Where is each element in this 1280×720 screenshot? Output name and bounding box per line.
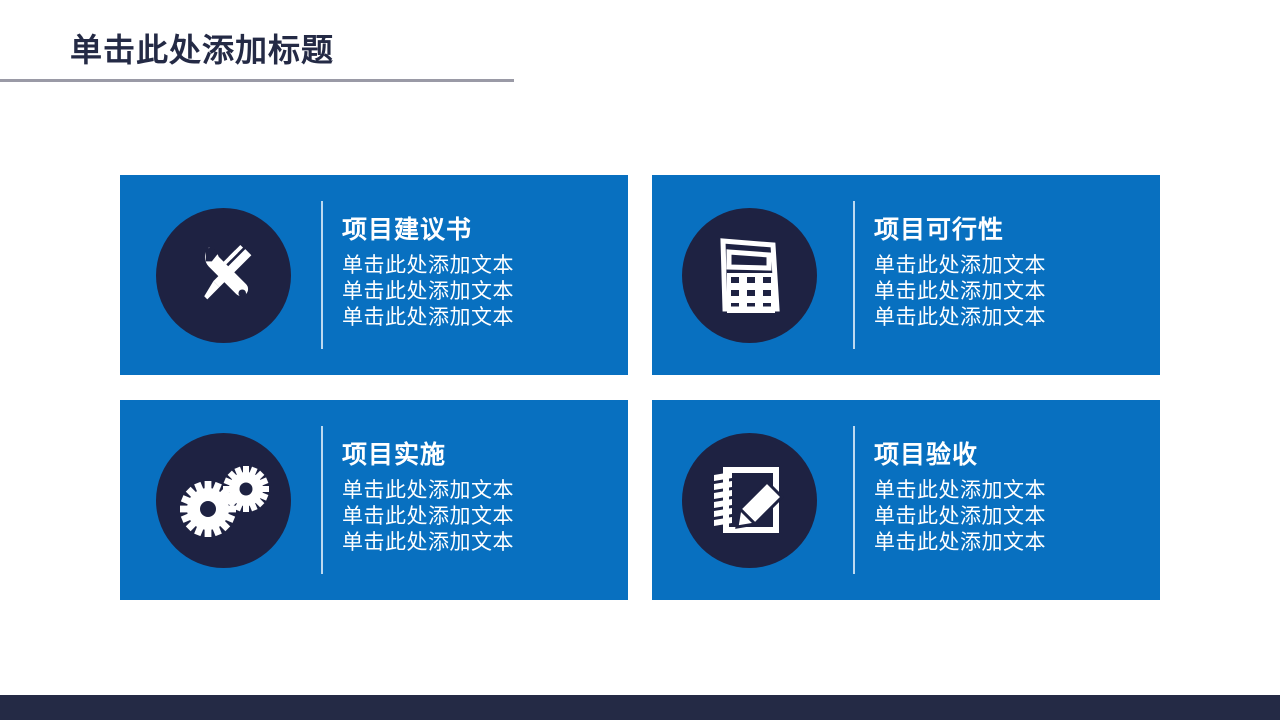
page-title[interactable]: 单击此处添加标题 — [70, 30, 514, 70]
card-heading[interactable]: 项目验收 — [874, 440, 1160, 470]
card-body: 项目实施 单击此处添加文本 单击此处添加文本 单击此处添加文本 — [323, 440, 628, 560]
card-project-acceptance[interactable]: 项目验收 单击此处添加文本 单击此处添加文本 单击此处添加文本 — [652, 400, 1160, 600]
card-line[interactable]: 单击此处添加文本 — [342, 279, 628, 305]
card-lines: 单击此处添加文本 单击此处添加文本 单击此处添加文本 — [874, 253, 1160, 331]
card-line[interactable]: 单击此处添加文本 — [342, 530, 628, 556]
wrench-screwdriver-icon — [186, 237, 262, 313]
card-line[interactable]: 单击此处添加文本 — [342, 478, 628, 504]
calculator-icon — [717, 236, 783, 314]
card-line[interactable]: 单击此处添加文本 — [342, 253, 628, 279]
card-heading[interactable]: 项目建议书 — [342, 215, 628, 245]
card-project-feasibility[interactable]: 项目可行性 单击此处添加文本 单击此处添加文本 单击此处添加文本 — [652, 175, 1160, 375]
title-underline-rule — [0, 79, 514, 82]
card-line[interactable]: 单击此处添加文本 — [874, 279, 1160, 305]
card-lines: 单击此处添加文本 单击此处添加文本 单击此处添加文本 — [342, 478, 628, 556]
card-line[interactable]: 单击此处添加文本 — [342, 305, 628, 331]
card-project-proposal[interactable]: 项目建议书 单击此处添加文本 单击此处添加文本 单击此处添加文本 — [120, 175, 628, 375]
title-block: 单击此处添加标题 — [0, 30, 514, 82]
card-body: 项目可行性 单击此处添加文本 单击此处添加文本 单击此处添加文本 — [855, 215, 1160, 335]
card-lines: 单击此处添加文本 单击此处添加文本 单击此处添加文本 — [874, 478, 1160, 556]
icon-circle — [156, 208, 291, 343]
card-body: 项目建议书 单击此处添加文本 单击此处添加文本 单击此处添加文本 — [323, 215, 628, 335]
card-grid: 项目建议书 单击此处添加文本 单击此处添加文本 单击此处添加文本 — [120, 175, 1160, 600]
gears-icon — [174, 459, 274, 541]
icon-circle — [156, 433, 291, 568]
slide-canvas: 单击此处添加标题 — [0, 0, 1280, 720]
card-lines: 单击此处添加文本 单击此处添加文本 单击此处添加文本 — [342, 253, 628, 331]
card-line[interactable]: 单击此处添加文本 — [874, 504, 1160, 530]
card-line[interactable]: 单击此处添加文本 — [874, 253, 1160, 279]
card-heading[interactable]: 项目可行性 — [874, 215, 1160, 245]
card-line[interactable]: 单击此处添加文本 — [874, 530, 1160, 556]
card-line[interactable]: 单击此处添加文本 — [874, 478, 1160, 504]
footer-bar — [0, 695, 1280, 720]
icon-circle — [682, 433, 817, 568]
card-body: 项目验收 单击此处添加文本 单击此处添加文本 单击此处添加文本 — [855, 440, 1160, 560]
icon-circle — [682, 208, 817, 343]
card-line[interactable]: 单击此处添加文本 — [874, 305, 1160, 331]
card-project-implementation[interactable]: 项目实施 单击此处添加文本 单击此处添加文本 单击此处添加文本 — [120, 400, 628, 600]
card-line[interactable]: 单击此处添加文本 — [342, 504, 628, 530]
card-heading[interactable]: 项目实施 — [342, 440, 628, 470]
notebook-pencil-icon — [710, 460, 790, 540]
